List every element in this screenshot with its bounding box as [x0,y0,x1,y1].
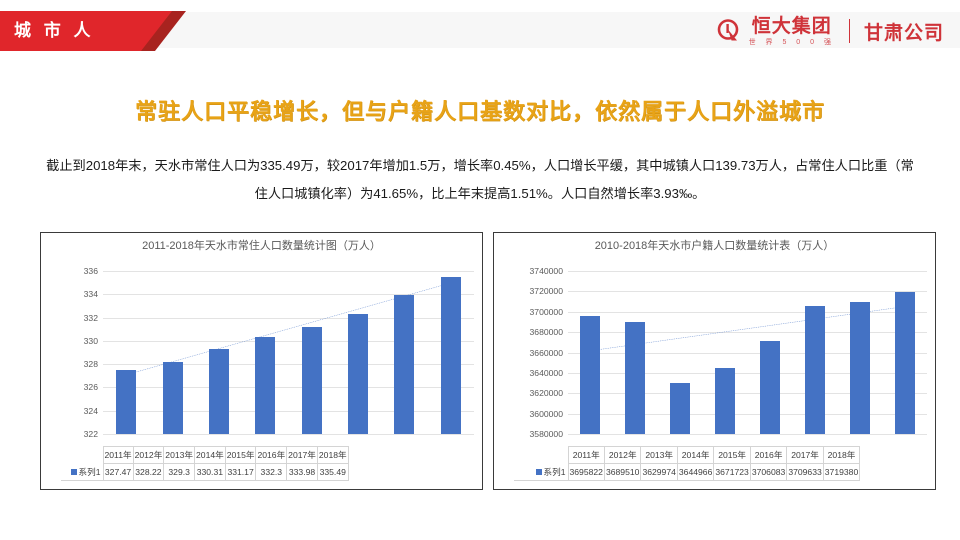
chart-title: 2010-2018年天水市户籍人口数量统计表（万人） [494,239,935,255]
table-corner-cell [514,447,568,464]
logo-company-block: 恒大集团 世 界 5 0 0 强 [749,17,835,46]
chart-gridline [103,434,474,435]
hengda-logo-icon [715,18,741,44]
category-header-cell: 2011年 [568,447,604,464]
value-cell: 3644966 [677,464,713,481]
value-cell: 330.31 [195,464,226,481]
bar-slot [703,271,748,434]
section-banner: 城 市 人 [0,11,190,51]
table-row: 系列13695822368951036299743644966367172337… [514,464,860,481]
logo-divider [849,19,850,43]
series-legend-cell: 系列1 [514,464,568,481]
category-header-cell: 2017年 [287,447,318,464]
category-header-cell: 2015年 [714,447,750,464]
chart-bar [116,370,136,434]
chart-bar [580,316,600,434]
category-header-cell: 2018年 [317,447,348,464]
table-row: 2011年2012年2013年2014年2015年2016年2017年2018年 [514,447,860,464]
legend-swatch-icon [71,469,77,475]
category-header-cell: 2016年 [750,447,786,464]
category-header-cell: 2017年 [787,447,823,464]
bar-slot [837,271,882,434]
bar-slot [381,271,427,434]
chart-bar [163,362,183,434]
chart-bar [805,306,825,434]
category-header-cell: 2018年 [823,447,859,464]
page-title: 常驻人口平稳增长，但与户籍人口基数对比，依然属于人口外溢城市 [0,94,960,126]
value-cell: 3629974 [641,464,677,481]
bar-slot [103,271,149,434]
y-axis-tick-label: 322 [84,429,98,439]
slide-header: 城 市 人 恒大集团 世 界 5 0 0 强 甘肃公司 [0,0,960,58]
chart-gridline [568,434,927,435]
bar-slot [792,271,837,434]
chart-panel-resident-population: 2011-2018年天水市常住人口数量统计图（万人） 3223243263283… [40,232,483,490]
category-header-cell: 2014年 [677,447,713,464]
chart-bar [895,292,915,434]
chart-bar [715,368,735,434]
value-cell: 3695822 [568,464,604,481]
bar-slot [196,271,242,434]
chart-bar [441,277,461,434]
bar-slot [613,271,658,434]
category-header-cell: 2015年 [225,447,256,464]
bar-slot [658,271,703,434]
y-axis-tick-label: 3600000 [530,409,563,419]
bar-slot [568,271,613,434]
category-header-cell: 2012年 [604,447,640,464]
chart-panel-household-population: 2010-2018年天水市户籍人口数量统计表（万人） 3580000360000… [493,232,936,490]
bar-slot [335,271,381,434]
series-legend-cell: 系列1 [61,464,103,481]
y-axis-tick-label: 324 [84,406,98,416]
chart-data-table: 2011年2012年2013年2014年2015年2016年2017年2018年… [514,446,860,481]
chart-bar [760,341,780,434]
bar-slot [882,271,927,434]
value-cell: 327.47 [103,464,133,481]
logo-company-tagline: 世 界 5 0 0 强 [749,39,835,46]
chart-bar [394,295,414,434]
y-axis-tick-label: 328 [84,359,98,369]
y-axis-tick-label: 330 [84,336,98,346]
value-cell: 335.49 [317,464,348,481]
bar-slot [289,271,335,434]
value-cell: 3709633 [787,464,823,481]
bar-slot [428,271,474,434]
chart-bar [302,327,322,434]
chart-bar [255,337,275,434]
chart-bar [625,322,645,434]
value-cell: 3706083 [750,464,786,481]
series-name: 系列1 [79,467,101,477]
bar-slot [149,271,195,434]
chart-gridbox: 322324326328330332334336 [103,271,474,434]
y-axis-tick-label: 336 [84,266,98,276]
chart-bar [348,314,368,434]
category-header-cell: 2012年 [133,447,164,464]
table-corner-cell [61,447,103,464]
category-header-cell: 2016年 [256,447,287,464]
y-axis-tick-label: 332 [84,313,98,323]
value-cell: 328.22 [133,464,164,481]
chart-title: 2011-2018年天水市常住人口数量统计图（万人） [41,239,482,255]
chart-bars [103,271,474,434]
value-cell: 329.3 [164,464,195,481]
y-axis-tick-label: 3620000 [530,388,563,398]
value-cell: 3689510 [604,464,640,481]
chart-bar [850,302,870,434]
bar-slot [748,271,793,434]
value-cell: 3719380 [823,464,859,481]
chart-data-table: 2011年2012年2013年2014年2015年2016年2017年2018年… [61,446,349,481]
y-axis-tick-label: 3700000 [530,307,563,317]
table-row: 系列1327.47328.22329.3330.31331.17332.3333… [61,464,348,481]
value-cell: 333.98 [287,464,318,481]
value-cell: 331.17 [225,464,256,481]
y-axis-tick-label: 3740000 [530,266,563,276]
y-axis-tick-label: 3640000 [530,368,563,378]
y-axis-tick-label: 326 [84,382,98,392]
category-header-cell: 2013年 [641,447,677,464]
chart-bar [209,349,229,434]
category-header-cell: 2011年 [103,447,133,464]
chart-bars [568,271,927,434]
y-axis-tick-label: 3660000 [530,348,563,358]
company-logo: 恒大集团 世 界 5 0 0 强 甘肃公司 [715,14,944,48]
chart-plot-area: 3580000360000036200003640000366000036800… [494,267,931,489]
value-cell: 3671723 [714,464,750,481]
body-paragraph: 截止到2018年末，天水市常住人口为335.49万，较2017年增加1.5万，增… [40,152,920,209]
chart-bar [670,383,690,434]
banner-label: 城 市 人 [14,20,94,42]
series-name: 系列1 [544,467,566,477]
category-header-cell: 2013年 [164,447,195,464]
legend-swatch-icon [536,469,542,475]
y-axis-tick-label: 3580000 [530,429,563,439]
chart-plot-area: 322324326328330332334336 2011年2012年2013年… [41,267,478,489]
y-axis-tick-label: 334 [84,289,98,299]
y-axis-tick-label: 3680000 [530,327,563,337]
category-header-cell: 2014年 [195,447,226,464]
logo-branch-name: 甘肃公司 [864,18,944,45]
chart-gridbox: 3580000360000036200003640000366000036800… [568,271,927,434]
y-axis-tick-label: 3720000 [530,286,563,296]
logo-company-name: 恒大集团 [752,17,832,36]
value-cell: 332.3 [256,464,287,481]
bar-slot [242,271,288,434]
table-row: 2011年2012年2013年2014年2015年2016年2017年2018年 [61,447,348,464]
